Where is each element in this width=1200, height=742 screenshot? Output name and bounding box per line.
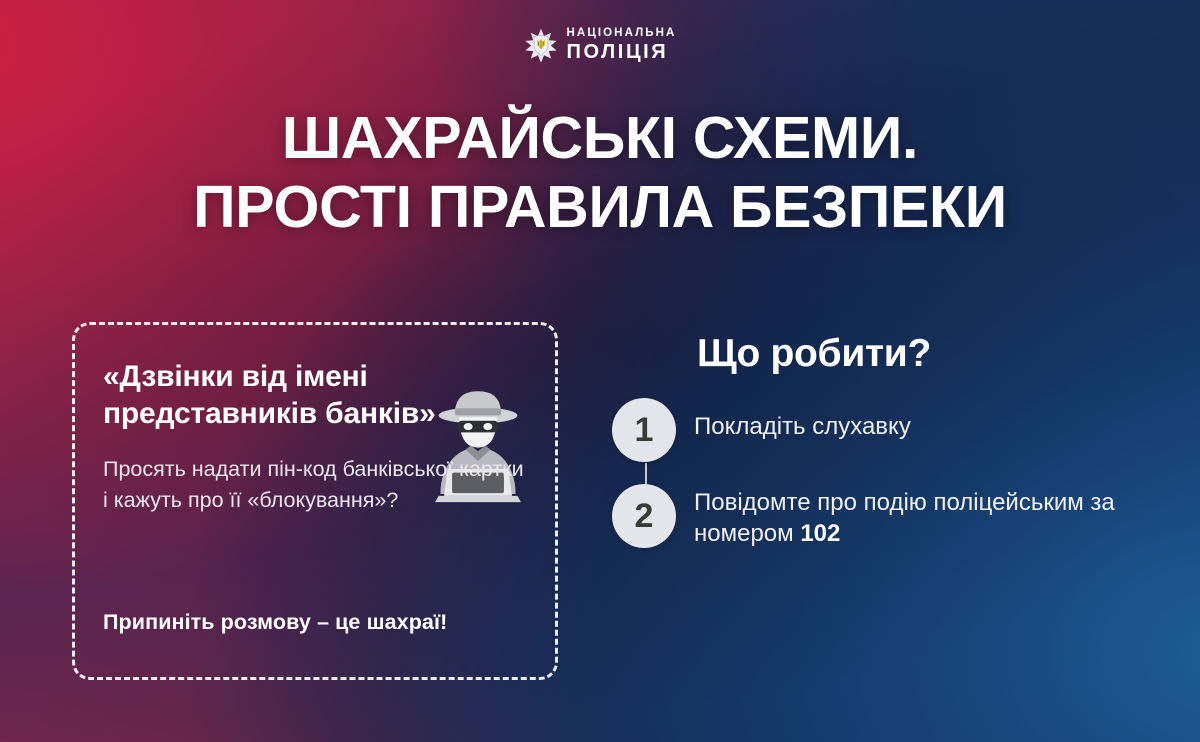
actions-heading: Що робити? <box>697 332 931 376</box>
step-item: 2 Повідомте про подію поліцейським за но… <box>612 484 1152 549</box>
step-number-badge: 2 <box>612 484 676 548</box>
title-line-1: ШАХРАЙСЬКІ СХЕМИ. <box>282 105 918 171</box>
actions-steps-list: 1 Покладіть слухавку 2 Повідомте про под… <box>612 398 1152 549</box>
title-line-2: ПРОСТІ ПРАВИЛА БЕЗПЕКИ <box>0 173 1200 242</box>
police-logo: НАЦІОНАЛЬНА ПОЛІЦІЯ <box>0 28 1200 62</box>
scheme-card: «Дзвінки від імені представників банків»… <box>72 322 558 680</box>
step-text-plain: Повідомте про подію поліцейським за номе… <box>694 489 1115 547</box>
step-text: Покладіть слухавку <box>694 398 911 443</box>
logo-line-police: ПОЛІЦІЯ <box>567 42 677 62</box>
scheme-card-heading: «Дзвінки від імені представників банків» <box>103 359 503 432</box>
page-title: ШАХРАЙСЬКІ СХЕМИ. ПРОСТІ ПРАВИЛА БЕЗПЕКИ <box>0 104 1200 242</box>
infographic-poster: НАЦІОНАЛЬНА ПОЛІЦІЯ ШАХРАЙСЬКІ СХЕМИ. ПР… <box>0 0 1200 742</box>
scheme-card-cta: Припиніть розмову – це шахраї! <box>103 610 447 635</box>
step-text: Повідомте про подію поліцейським за номе… <box>694 484 1152 549</box>
logo-line-national: НАЦІОНАЛЬНА <box>567 28 677 40</box>
step-number-badge: 1 <box>612 398 676 462</box>
police-star-badge-icon <box>524 28 558 62</box>
step-item: 1 Покладіть слухавку <box>612 398 1152 462</box>
step-text-plain: Покладіть слухавку <box>694 413 911 440</box>
scheme-card-body: Просять надати пін-код банківської картк… <box>103 454 525 515</box>
step-text-emphasis: 102 <box>800 520 840 547</box>
